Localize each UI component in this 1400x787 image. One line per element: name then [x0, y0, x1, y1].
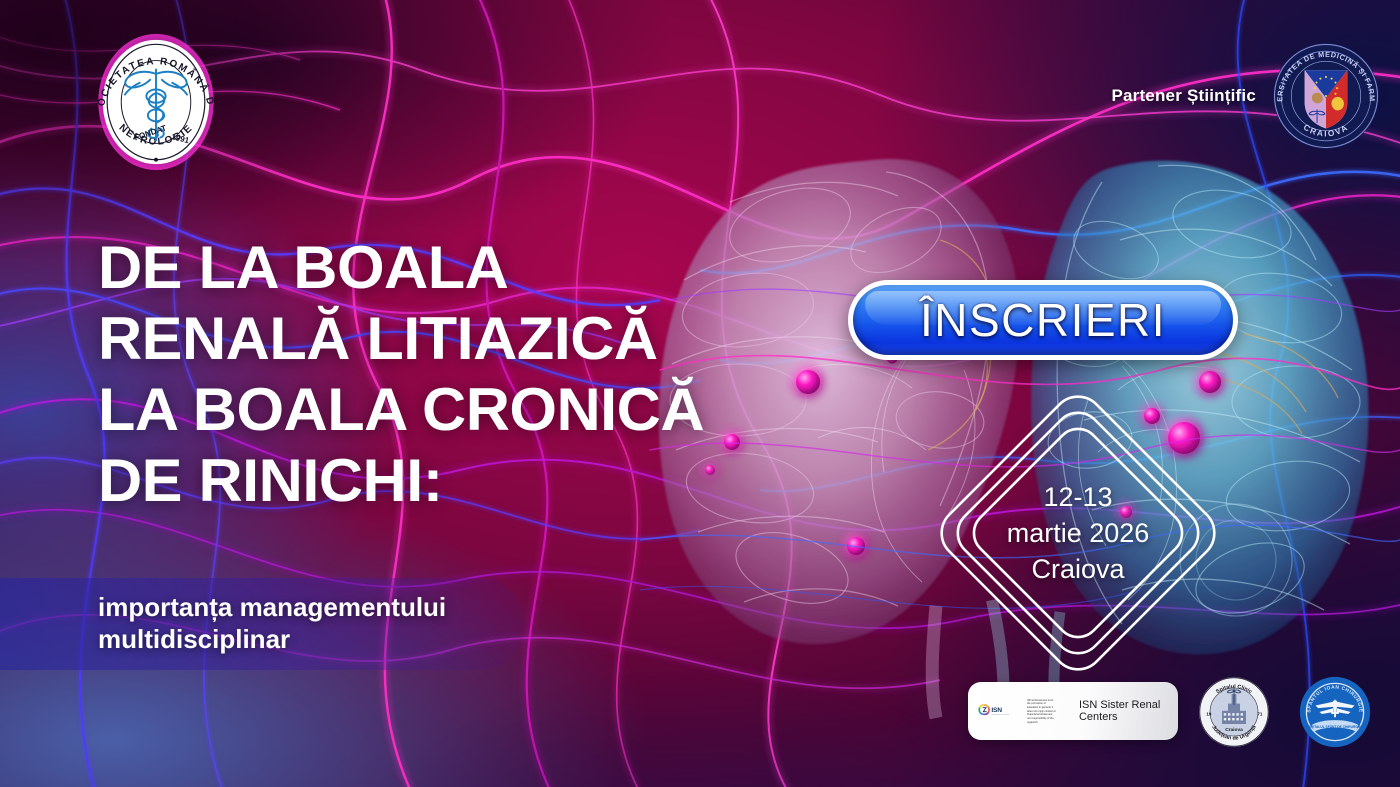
event-city: Craiova	[1031, 552, 1124, 586]
conference-poster: SOCIETATEA ROMÂNĂ DE NEFROLOGIE FOND	[0, 0, 1400, 787]
title-line-4: DE RINICHI:	[98, 451, 751, 511]
scju-center-text: Craiova	[1225, 727, 1243, 733]
poster-title: DE LA BOALA RENALĂ LITIAZICĂ LA BOALA CR…	[98, 238, 738, 522]
scju-year-left: 19	[1206, 712, 1212, 717]
poster-subtitle: importanța managementului multidisciplin…	[98, 592, 598, 655]
isn-sister-renal-centers-card: ISN International Society of Nephrology …	[968, 682, 1178, 740]
societatea-romana-de-nefrologie-logo: SOCIETATEA ROMÂNĂ DE NEFROLOGIE FOND	[82, 28, 230, 176]
event-date-diamond: 12-13 martie 2026 Craiova	[928, 383, 1228, 683]
subtitle-line-1: importanța managementului	[98, 592, 598, 624]
spitalul-clinic-judetean-craiova-seal: Spitalul Clinic Județean de Urgență	[1198, 676, 1270, 748]
isn-logo: ISN International Society of Nephrology	[978, 703, 1018, 718]
event-month-year: martie 2026	[1007, 516, 1150, 550]
umf-craiova-seal: UNIVERSITATEA DE MEDICINĂ ȘI FARMACIE CR…	[1270, 40, 1382, 152]
title-line-2: RENALĂ LITIAZICĂ	[98, 309, 751, 369]
sfi-ribbon-text: SPITALUL SFÂNT DE CHIRURGIE	[1309, 724, 1362, 729]
partner-label: Partener Științific	[1111, 86, 1256, 106]
sfantul-ioan-hospital-seal: SFÂNTUL IOAN CHIRURGIE SPITALUL SFÂNT DE…	[1296, 673, 1374, 751]
event-dates: 12-13	[1043, 480, 1112, 514]
inscrieri-button-label: ÎNSCRIERI	[920, 293, 1166, 347]
inscrieri-button[interactable]: ÎNSCRIERI	[848, 280, 1238, 360]
isn-disclaimer: ISN endorsement is for the promotion of …	[1027, 699, 1056, 724]
isn-mark-text: ISN	[991, 707, 1002, 714]
scju-year-right: 71	[1257, 712, 1263, 717]
event-date-text: 12-13 martie 2026 Craiova	[928, 383, 1228, 683]
title-line-3: LA BOALA CRONICĂ	[98, 380, 751, 440]
scientific-partner-block: Partener Științific UNIVERSITATEA DE MED…	[1111, 40, 1382, 152]
title-line-1: DE LA BOALA	[98, 238, 751, 298]
subtitle-line-2: multidisciplinar	[98, 624, 598, 656]
isn-label: ISN Sister Renal Centers	[1079, 699, 1168, 723]
